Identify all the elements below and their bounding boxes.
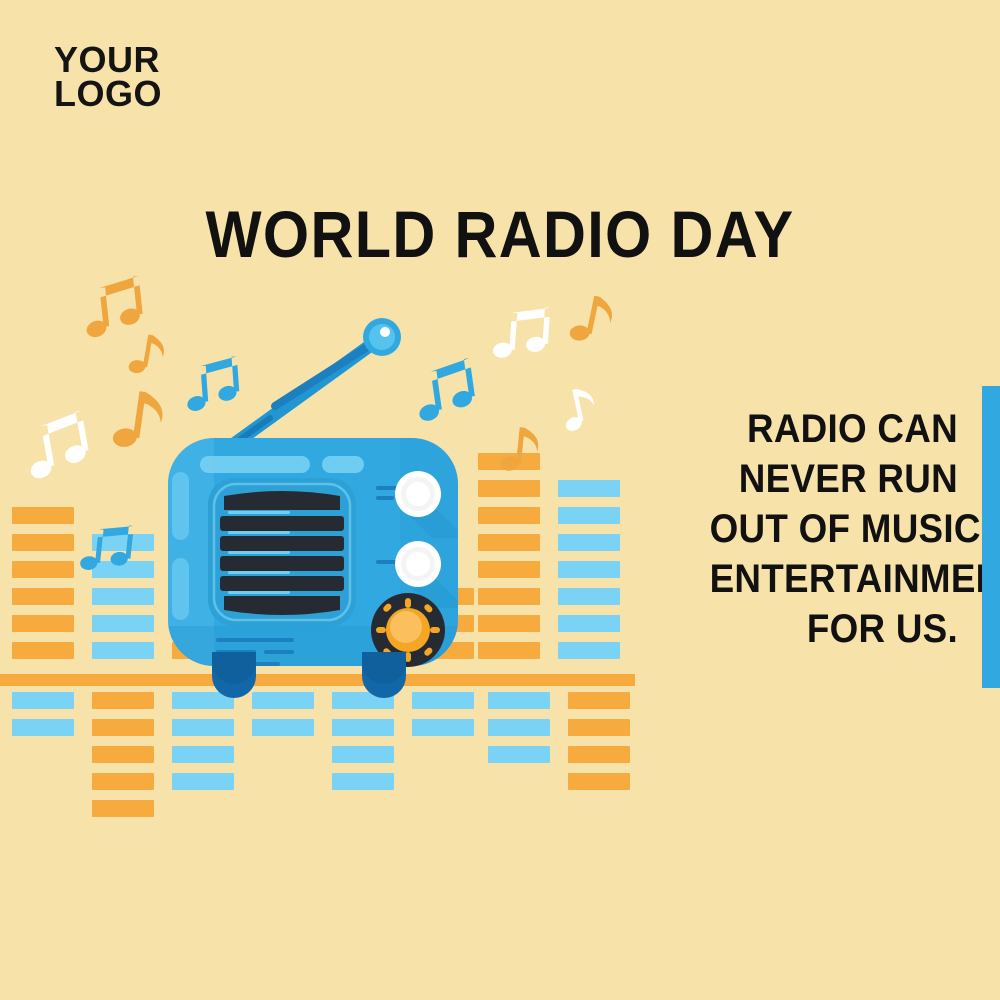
radio-knob-lower bbox=[395, 541, 441, 587]
radio-gloss-pill-3 bbox=[172, 472, 189, 540]
radio-gloss-pill-4 bbox=[172, 558, 189, 620]
logo-line-1: YOUR bbox=[54, 43, 162, 77]
music-note-beamed-white-1 bbox=[22, 408, 98, 484]
logo-line-2: LOGO bbox=[54, 77, 162, 111]
tagline-line-1: RADIO CAN bbox=[710, 404, 958, 454]
tagline-line-5: FOR US. bbox=[710, 604, 958, 654]
music-note-single-orange-4 bbox=[490, 420, 552, 482]
radio-knob-upper bbox=[395, 471, 441, 517]
music-note-beamed-white-2 bbox=[490, 300, 558, 368]
tagline-text: RADIO CAN NEVER RUN OUT OF MUSIC & ENTER… bbox=[710, 404, 958, 654]
radio-body bbox=[168, 438, 466, 678]
tagline-line-4: ENTERTAINMENT bbox=[710, 554, 958, 604]
music-note-beamed-blue-2 bbox=[78, 518, 140, 580]
tagline-line-3: OUT OF MUSIC & bbox=[710, 504, 958, 554]
vintage-radio-illustration bbox=[150, 300, 480, 700]
music-note-single-orange-3 bbox=[560, 288, 626, 354]
page-title: WORLD RADIO DAY bbox=[50, 196, 950, 272]
radio-gloss-pill-1 bbox=[200, 456, 310, 473]
radio-gloss-pill-2 bbox=[322, 456, 364, 473]
poster-canvas: YOUR LOGO WORLD RADIO DAY RADIO CAN NEVE… bbox=[0, 0, 1000, 1000]
music-note-single-white-1 bbox=[552, 382, 608, 438]
tagline-line-2: NEVER RUN bbox=[710, 454, 958, 504]
right-accent-bar bbox=[982, 386, 1000, 688]
logo-block: YOUR LOGO bbox=[54, 43, 162, 111]
